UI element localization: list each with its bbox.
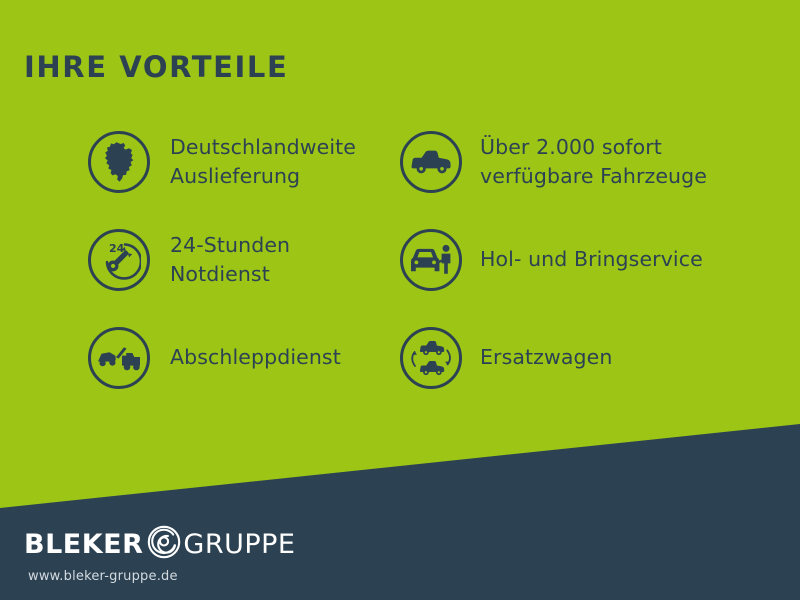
tow-truck-icon [88, 327, 150, 389]
page-title: IHRE VORTEILE [24, 50, 288, 84]
feature-item-ersatzwagen[interactable]: Ersatzwagen [400, 309, 760, 407]
clock-wrench-24h-icon: 24 [88, 229, 150, 291]
two-cars-exchange-icon [400, 327, 462, 389]
spiral-logo-icon [146, 524, 182, 564]
feature-label: Deutschlandweite Auslieferung [170, 133, 356, 191]
logo-primary-text: BLEKER [24, 529, 143, 560]
car-side-icon [400, 131, 462, 193]
feature-item-hol-und-bringservice[interactable]: Hol- und Bringservice [400, 211, 760, 309]
car-front-person-icon [400, 229, 462, 291]
feature-label-line1: 24-Stunden [170, 231, 290, 260]
feature-label-line1: Über 2.000 sofort [480, 133, 707, 162]
feature-item-verfuegbare-fahrzeuge[interactable]: Über 2.000 sofort verfügbare Fahrzeuge [400, 113, 760, 211]
feature-label-line2: Auslieferung [170, 162, 356, 191]
feature-label: 24-Stunden Notdienst [170, 231, 290, 289]
benefits-column-left: Deutschlandweite Auslieferung 24 [88, 113, 398, 407]
feature-label-line1: Deutschlandweite [170, 133, 356, 162]
feature-label: Über 2.000 sofort verfügbare Fahrzeuge [480, 133, 707, 191]
feature-label-line1: Hol- und Bringservice [480, 245, 703, 274]
benefits-column-right: Über 2.000 sofort verfügbare Fahrzeuge [400, 113, 760, 407]
feature-label-line2: Notdienst [170, 260, 290, 289]
germany-map-icon [88, 131, 150, 193]
feature-item-24-stunden-notdienst[interactable]: 24 24-Stunden Notdienst [88, 211, 398, 309]
feature-label: Hol- und Bringservice [480, 245, 703, 274]
feature-label: Ersatzwagen [480, 343, 612, 372]
feature-label: Abschleppdienst [170, 343, 341, 372]
feature-label-line1: Abschleppdienst [170, 343, 341, 372]
feature-label-line2: verfügbare Fahrzeuge [480, 162, 707, 191]
bleker-gruppe-logo[interactable]: BLEKER GRUPPE [24, 524, 295, 564]
slide-canvas: IHRE VORTEILE Deutschlandweite Ausliefer… [0, 0, 800, 600]
logo-secondary-text: GRUPPE [183, 529, 295, 560]
feature-item-deutschlandweite-auslieferung[interactable]: Deutschlandweite Auslieferung [88, 113, 398, 211]
website-url[interactable]: www.bleker-gruppe.de [28, 569, 178, 584]
footer: BLEKER GRUPPE www.bleker-gruppe.de [0, 480, 800, 600]
feature-item-abschleppdienst[interactable]: Abschleppdienst [88, 309, 398, 407]
feature-label-line1: Ersatzwagen [480, 343, 612, 372]
